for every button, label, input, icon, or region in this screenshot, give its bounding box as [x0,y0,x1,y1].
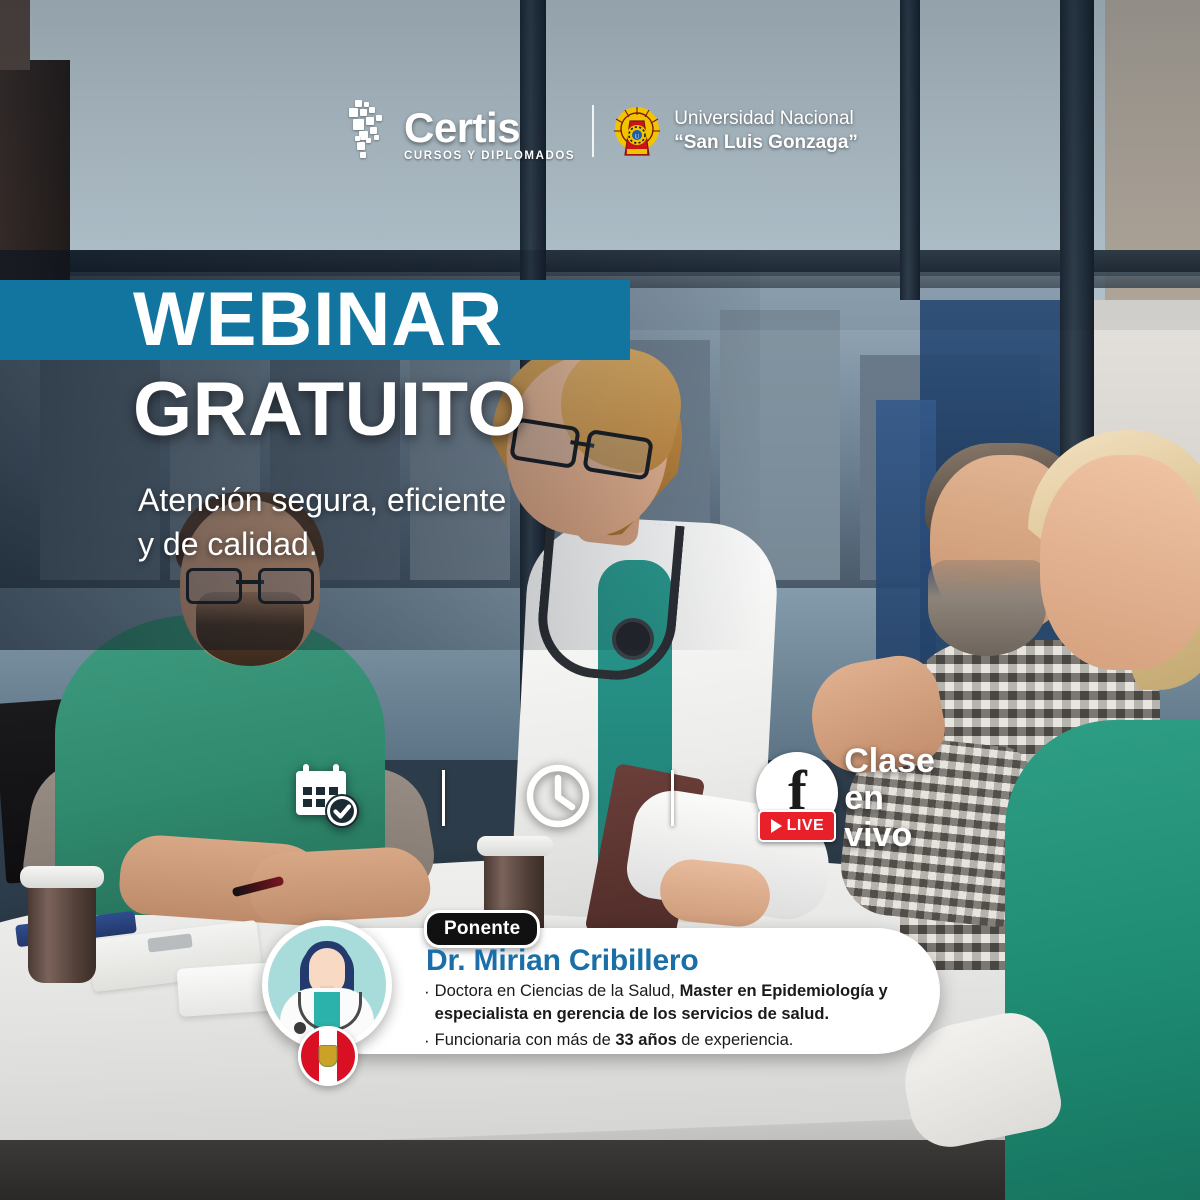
list-item: · Doctora en Ciencias de la Salud, Maste… [424,980,924,1026]
certis-name: Certis [404,108,520,148]
person-checkered-shirt-beard [928,560,1046,656]
university-logo: U Universidad Nacional “San Luis Gonzaga… [611,105,858,157]
calendar-check-icon [290,759,364,838]
certis-wordmark: Certis CURSOS Y DIPLOMADOS [404,108,575,162]
logo-divider [592,105,594,157]
speaker-name: Dr. Mirian Cribillero [426,944,699,978]
live-label: LIVE [787,817,825,835]
certis-tagline: CURSOS Y DIPLOMADOS [404,150,575,162]
info-row: f LIVE Clase en vivo [290,752,950,844]
clock-icon [523,761,593,836]
headline-webinar: WEBINAR [133,282,653,358]
headline-subtitle: Atención segura, eficiente y de calidad. [138,478,658,566]
subtitle-line2: y de calidad. [138,522,658,566]
date-item [290,759,364,838]
clase-line2: en vivo [844,780,950,854]
clase-line1: Clase [844,743,950,780]
bullet2-bold: 33 años [615,1031,676,1049]
peru-flag-icon [298,1026,358,1086]
university-line2: “San Luis Gonzaga” [674,131,858,155]
ponente-label: Ponente [444,918,520,940]
facebook-live-item[interactable]: f LIVE Clase en vivo [752,743,950,854]
bullet2-normal-b: de experiencia. [681,1031,793,1049]
latin-america-pixel-map-icon [345,100,397,162]
info-divider [442,770,445,826]
live-pill: LIVE [758,810,836,842]
bullet1-bold-b: especialista en gerencia de los servicio… [435,1005,829,1023]
status-badge: Ponente [424,910,540,948]
coffee-cup-prop [28,878,96,983]
coffee-cup-lid [20,866,104,888]
bullet1-normal: Doctora en Ciencias de la Salud, [435,982,675,1000]
university-seal-icon: U [611,105,663,157]
bullet2-normal-a: Funcionaria con más de [435,1031,611,1049]
subtitle-line1: Atención segura, eficiente [138,478,658,522]
list-item: · Funcionaria con más de 33 años de expe… [424,1029,924,1052]
bullet-marker: · [424,980,430,1003]
speaker-bullets: · Doctora en Ciencias de la Salud, Maste… [424,980,924,1055]
bullet-text: Doctora en Ciencias de la Salud, Master … [435,980,888,1026]
bullet1-bold-a: Master en Epidemiología y [680,982,888,1000]
play-triangle-icon [771,819,782,833]
info-divider [671,770,674,826]
clase-en-vivo-text: Clase en vivo [844,743,950,854]
person-blonde-head [1040,455,1200,670]
bullet-text: Funcionaria con más de 33 años de experi… [435,1029,794,1052]
time-item [523,761,593,836]
certis-logo: Certis CURSOS Y DIPLOMADOS [345,100,575,162]
university-line1: Universidad Nacional [674,107,858,131]
webinar-poster: Certis CURSOS Y DIPLOMADOS [0,0,1200,1200]
facebook-live-badge[interactable]: f LIVE [752,752,828,844]
peru-coat-of-arms-icon [319,1045,338,1067]
svg-text:U: U [635,135,640,141]
bullet-marker: · [424,1029,430,1052]
university-name: Universidad Nacional “San Luis Gonzaga” [674,107,858,156]
logo-bar: Certis CURSOS Y DIPLOMADOS [345,100,858,162]
headline-gratuito: GRATUITO [133,372,527,448]
